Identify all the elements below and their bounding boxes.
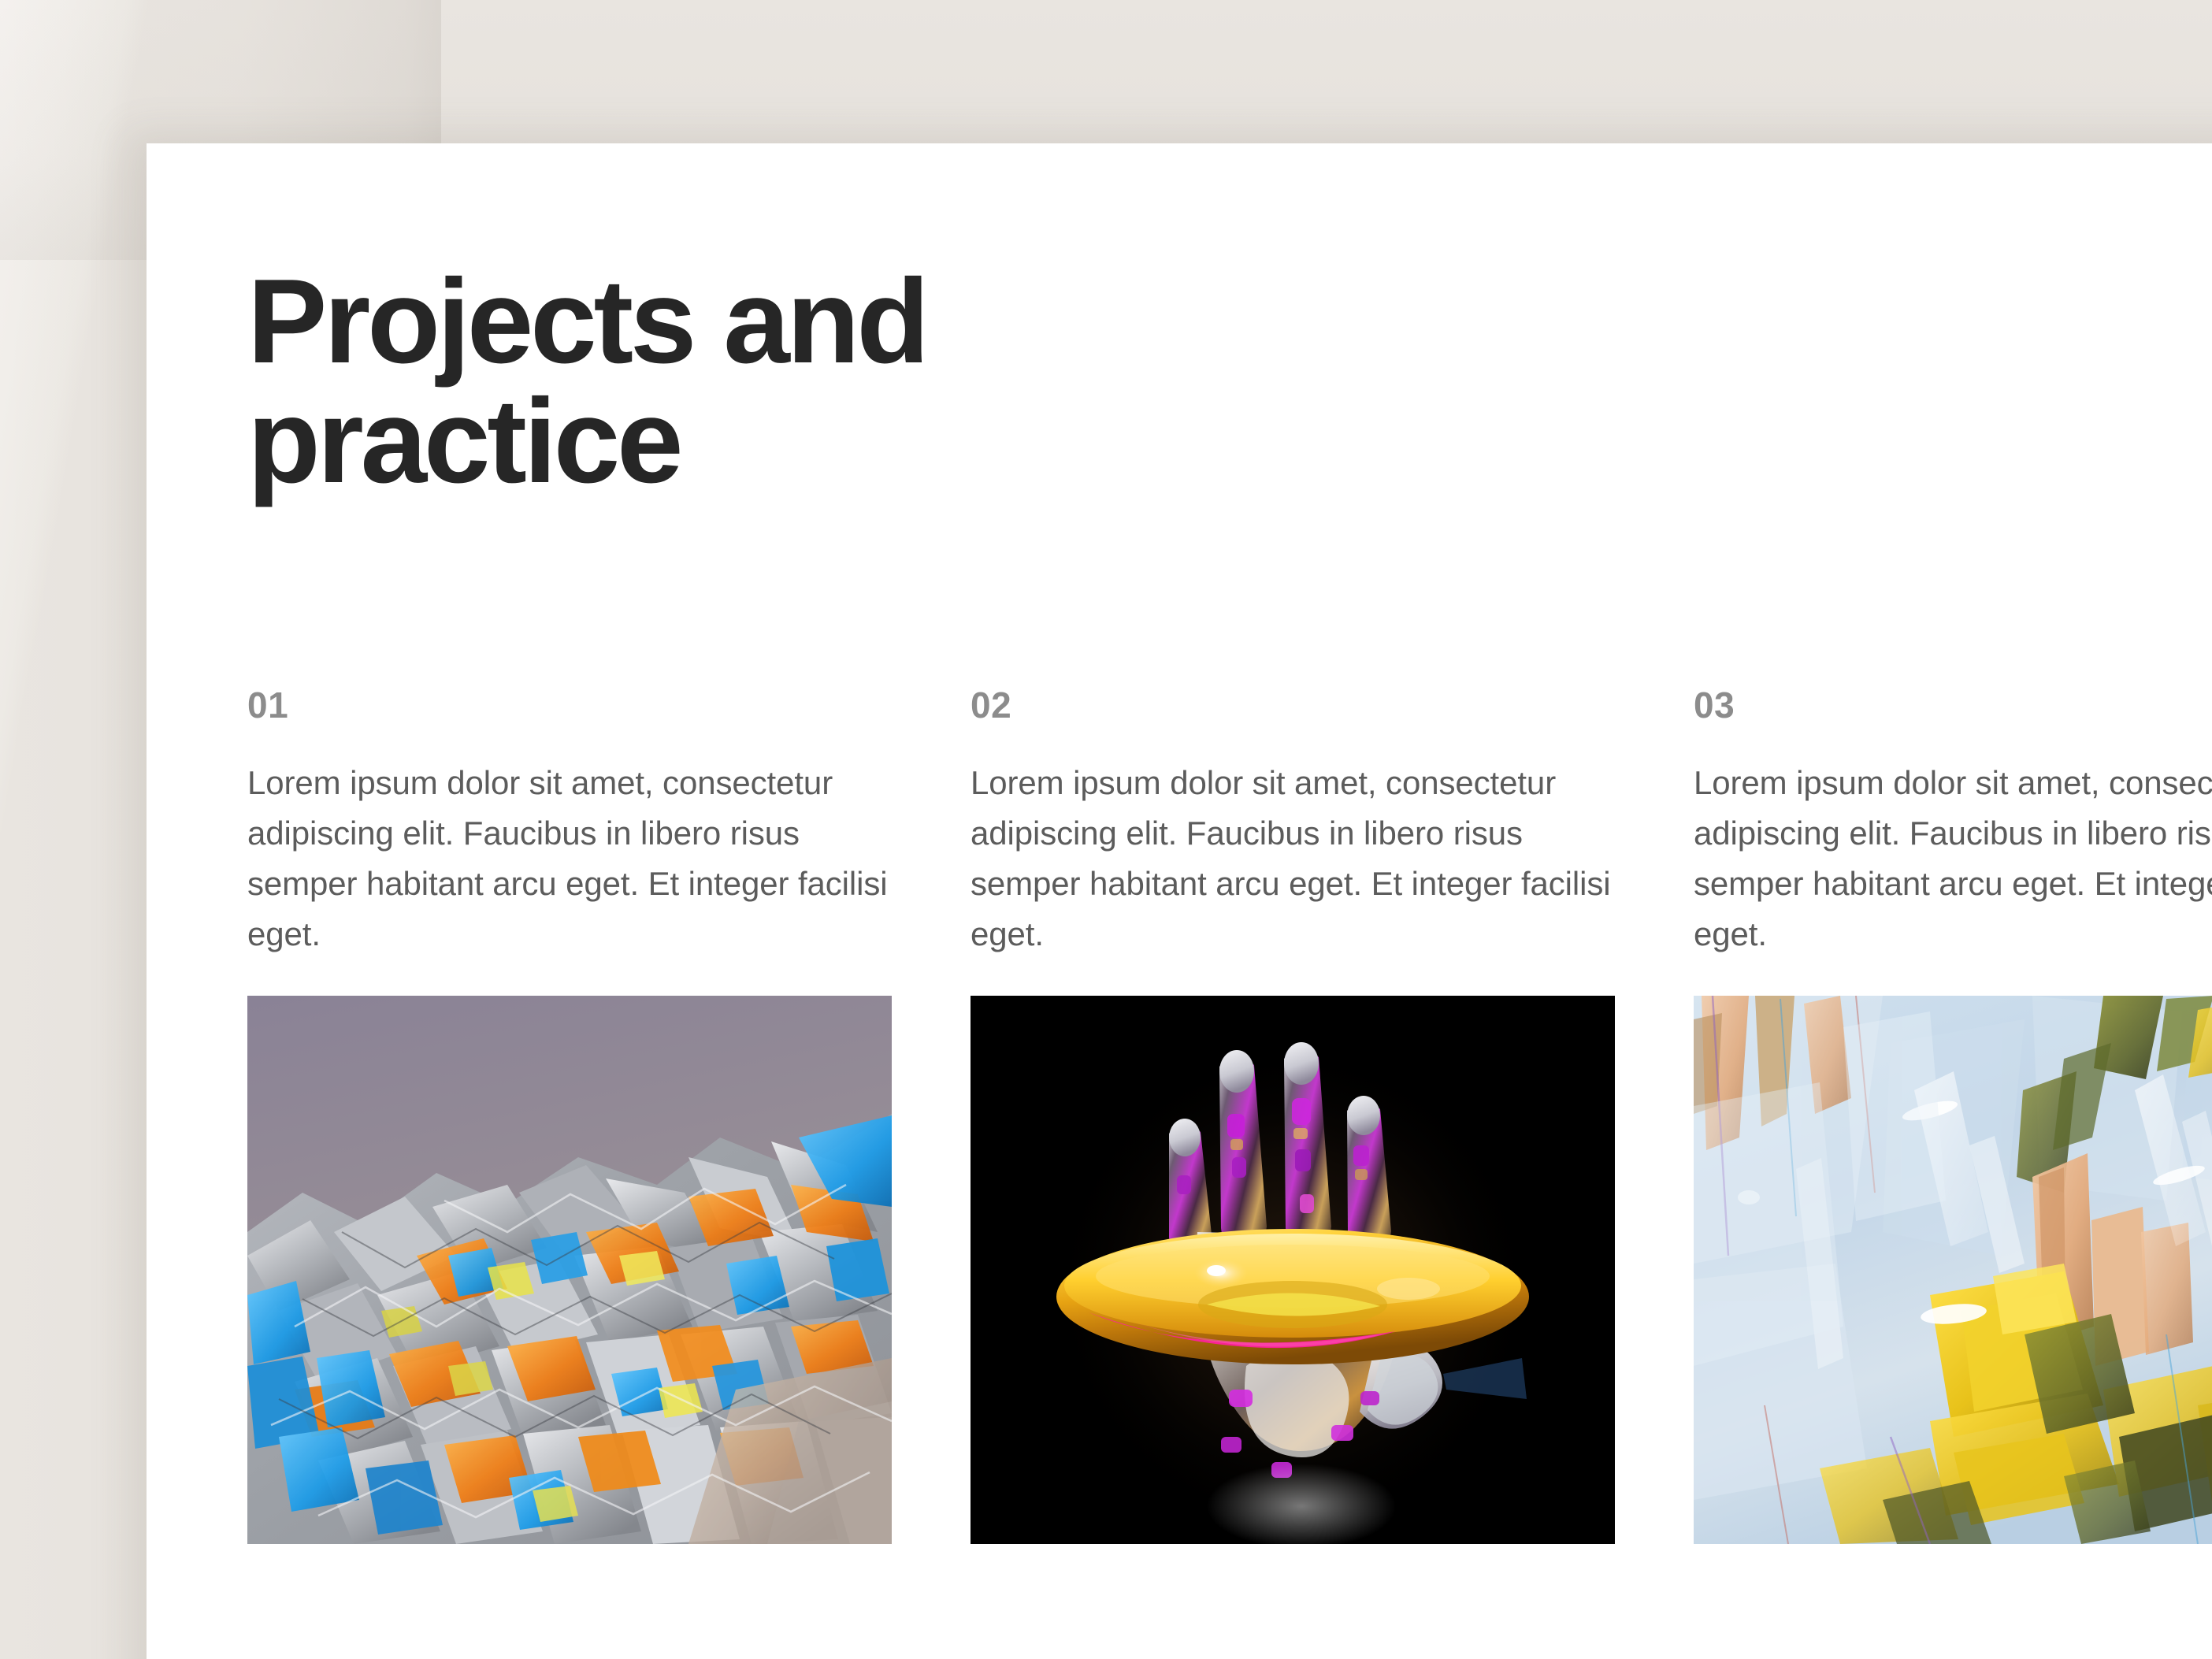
glass-hand-gold-ring-image[interactable] xyxy=(971,996,1615,1544)
project-number-03: 03 xyxy=(1694,687,2212,723)
page-title: Projects and practice xyxy=(247,262,1193,501)
content-sheet: Projects and practice 01 Lorem ipsum dol… xyxy=(147,143,2212,1659)
project-column-02[interactable]: 02 Lorem ipsum dolor sit amet, consectet… xyxy=(971,687,1615,1544)
screen-canvas: Projects and practice 01 Lorem ipsum dol… xyxy=(0,0,2212,1659)
crumpled-iridescent-foil-image[interactable] xyxy=(247,996,892,1544)
project-column-01[interactable]: 01 Lorem ipsum dolor sit amet, consectet… xyxy=(247,687,892,1544)
project-column-03[interactable]: 03 Lorem ipsum dolor sit amet, consectet… xyxy=(1694,687,2212,1544)
project-number-01: 01 xyxy=(247,687,892,723)
abstract-blue-yellow-shards-image[interactable] xyxy=(1694,996,2212,1544)
project-description-03: Lorem ipsum dolor sit amet, consectetur … xyxy=(1694,758,2212,959)
project-description-01: Lorem ipsum dolor sit amet, consectetur … xyxy=(247,758,892,959)
project-description-02: Lorem ipsum dolor sit amet, consectetur … xyxy=(971,758,1615,959)
projects-column-grid: 01 Lorem ipsum dolor sit amet, consectet… xyxy=(247,687,2212,1544)
project-number-02: 02 xyxy=(971,687,1615,723)
